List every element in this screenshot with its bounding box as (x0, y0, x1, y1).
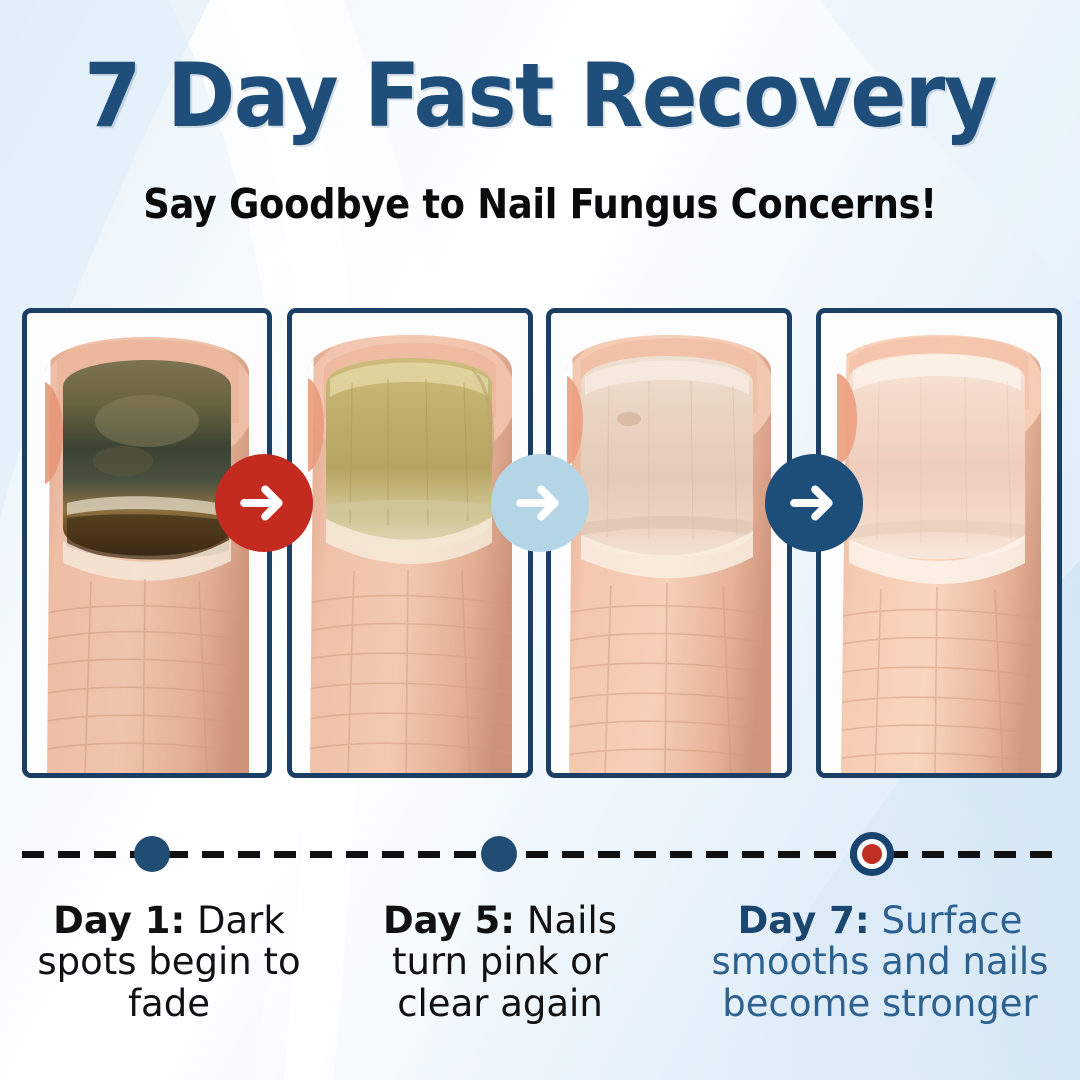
page-subtitle: Say Goodbye to Nail Fungus Concerns! (0, 180, 1080, 228)
timeline-dot-day1[interactable] (134, 836, 170, 872)
caption-day7-label: Day 7: (738, 899, 870, 942)
caption-day1-label: Day 1: (53, 899, 185, 942)
caption-day5: Day 5: Nails turn pink or clear again (358, 900, 642, 1024)
photo-panel-day7[interactable] (816, 308, 1062, 778)
before-after-photo-strip (0, 308, 1080, 778)
caption-day1: Day 1: Dark spots begin to fade (24, 900, 314, 1024)
timeline-dot-day7-core (862, 844, 882, 864)
toe-photo-day7 (821, 313, 1057, 773)
arrow-1-icon[interactable] (215, 454, 313, 552)
caption-day5-label: Day 5: (383, 899, 515, 942)
photo-panel-day0[interactable] (22, 308, 272, 778)
toe-photo-day1 (292, 313, 528, 773)
header: 7 Day Fast Recovery Say Goodbye to Nail … (0, 0, 1080, 228)
toe-photo-day5 (551, 313, 787, 773)
caption-day7: Day 7: Surface smooths and nails become … (700, 900, 1060, 1024)
timeline-dashed-line (22, 851, 1058, 858)
arrow-3-icon[interactable] (765, 454, 863, 552)
timeline-dot-day5[interactable] (481, 836, 517, 872)
timeline-dot-day7[interactable] (850, 832, 894, 876)
toe-photo-day0 (27, 313, 267, 773)
photo-panel-day1[interactable] (287, 308, 533, 778)
page-title: 7 Day Fast Recovery (0, 52, 1080, 140)
progress-timeline (0, 836, 1080, 872)
arrow-2-icon[interactable] (491, 454, 589, 552)
photo-panel-day5[interactable] (546, 308, 792, 778)
